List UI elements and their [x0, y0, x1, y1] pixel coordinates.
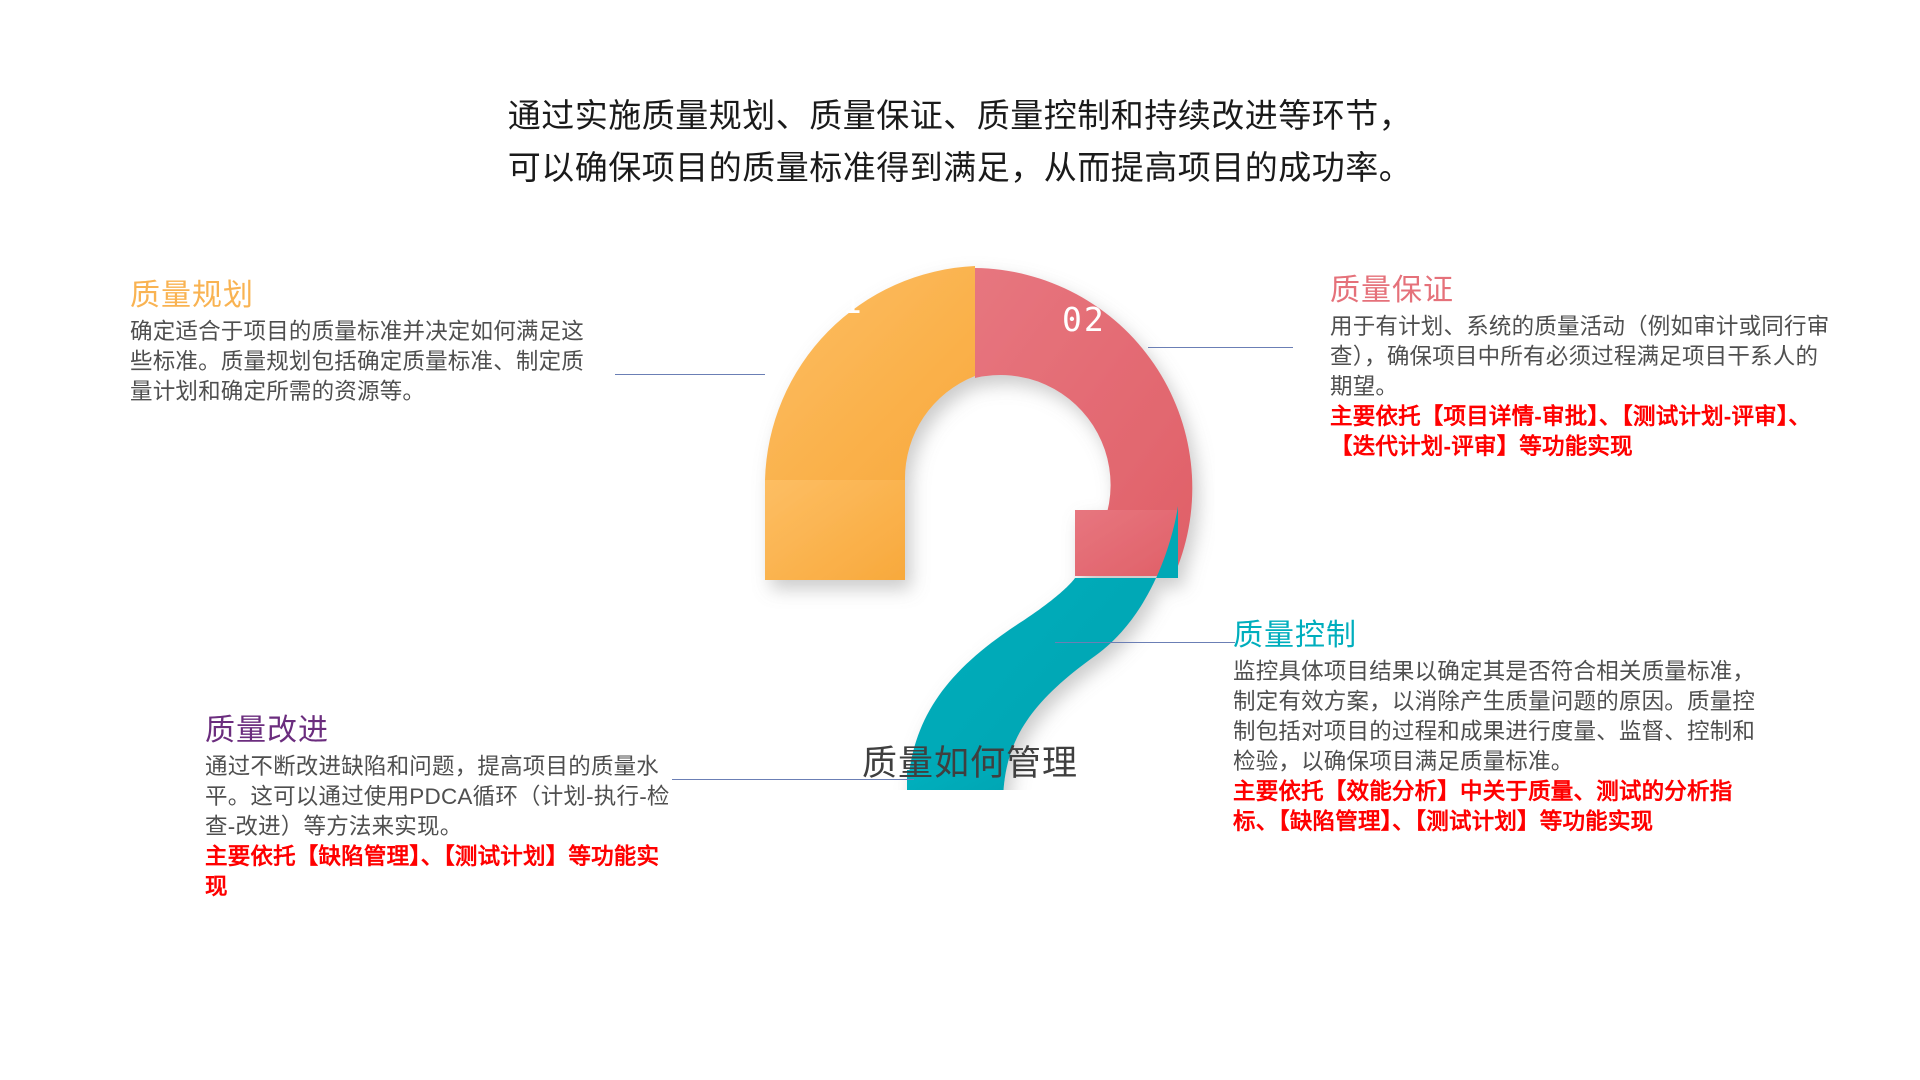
block-title-quality-planning: 质量规划	[130, 277, 590, 315]
segment-number-01: 01	[820, 282, 864, 321]
block-quality-planning: 质量规划 确定适合于项目的质量标准并决定如何满足这些标准。质量规划包括确定质量标…	[130, 277, 590, 407]
block-title-quality-improvement: 质量改进	[205, 712, 675, 750]
block-quality-assurance: 质量保证 用于有计划、系统的质量活动（例如审计或同行审查），确保项目中所有必须过…	[1330, 272, 1830, 462]
header-line-2: 可以确保项目的质量标准得到满足，从而提高项目的成功率。	[0, 142, 1920, 194]
segment-number-04: 04	[935, 618, 979, 657]
block-quality-control: 质量控制 监控具体项目结果以确定其是否符合相关质量标准，制定有效方案，以消除产生…	[1233, 617, 1773, 837]
segment-number-03: 03	[975, 478, 1019, 517]
diagram-caption: 质量如何管理	[760, 735, 1180, 786]
segment-01-shape	[765, 266, 975, 480]
block-body-quality-control: 监控具体项目结果以确定其是否符合相关质量标准，制定有效方案，以消除产生质量问题的…	[1233, 657, 1773, 777]
block-note-quality-assurance: 主要依托【项目详情-审批】、【测试计划-评审】、【迭代计划-评审】等功能实现	[1330, 402, 1830, 462]
connector-line-02	[1148, 347, 1293, 348]
block-note-quality-improvement: 主要依托【缺陷管理】、【测试计划】等功能实现	[205, 842, 675, 902]
header-line-1: 通过实施质量规划、质量保证、质量控制和持续改进等环节，	[0, 90, 1920, 142]
block-note-quality-control: 主要依托【效能分析】中关于质量、测试的分析指标、【缺陷管理】、【测试计划】等功能…	[1233, 777, 1773, 837]
block-quality-improvement: 质量改进 通过不断改进缺陷和问题，提高项目的质量水平。这可以通过使用PDCA循环…	[205, 712, 675, 902]
block-body-quality-assurance: 用于有计划、系统的质量活动（例如审计或同行审查），确保项目中所有必须过程满足项目…	[1330, 312, 1830, 402]
segment-number-02: 02	[1062, 300, 1106, 339]
block-body-quality-planning: 确定适合于项目的质量标准并决定如何满足这些标准。质量规划包括确定质量标准、制定质…	[130, 317, 590, 407]
connector-line-03	[1055, 642, 1235, 643]
connector-line-01	[615, 374, 765, 375]
segment-01-stub	[765, 480, 905, 580]
block-title-quality-assurance: 质量保证	[1330, 272, 1830, 310]
header-description: 通过实施质量规划、质量保证、质量控制和持续改进等环节， 可以确保项目的质量标准得…	[0, 90, 1920, 194]
block-title-quality-control: 质量控制	[1233, 617, 1773, 655]
block-body-quality-improvement: 通过不断改进缺陷和问题，提高项目的质量水平。这可以通过使用PDCA循环（计划-执…	[205, 752, 675, 842]
